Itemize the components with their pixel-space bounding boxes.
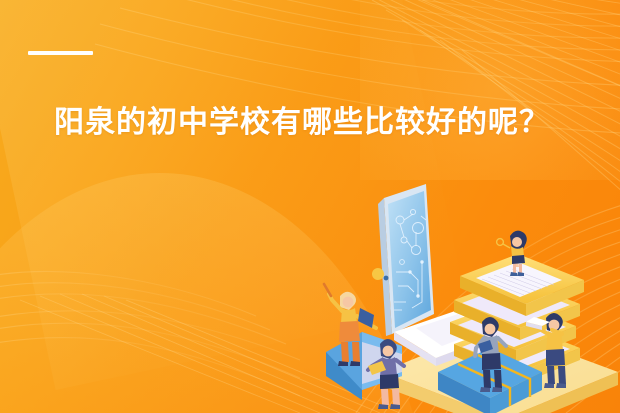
hero-illustration <box>318 176 620 413</box>
page-title: 阳泉的初中学校有哪些比较好的呢？ <box>54 104 574 142</box>
article-cover-card: 阳泉的初中学校有哪些比较好的呢？ <box>0 0 620 413</box>
gold-coin-accent <box>372 268 384 280</box>
title-underline-rule <box>28 51 93 55</box>
tablet-device <box>372 184 434 336</box>
soft-glow-top-right <box>360 0 620 180</box>
curve-strands-bottom-left <box>0 272 300 396</box>
isometric-books-and-people-illustration <box>318 176 620 413</box>
worker-bag <box>358 308 374 328</box>
tablet-camera-dot <box>384 276 389 281</box>
magnifying-glass <box>497 239 510 248</box>
